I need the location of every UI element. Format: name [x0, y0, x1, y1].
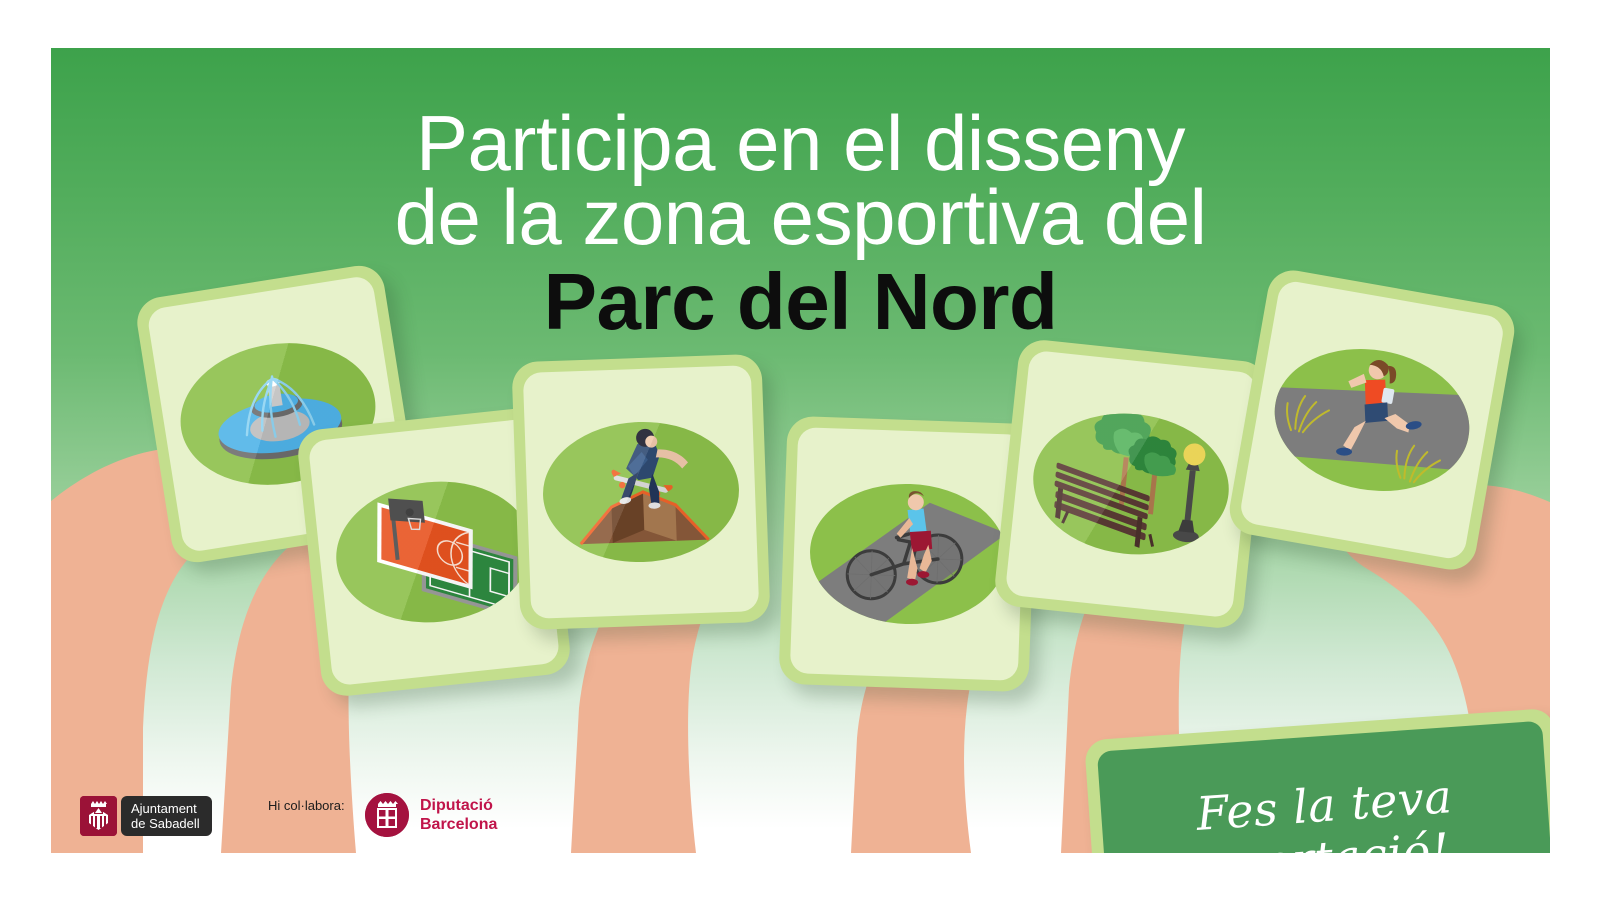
tree-icon [1122, 434, 1179, 516]
footer-bar [0, 853, 1600, 900]
runner-icon [1263, 334, 1480, 506]
sabadell-line-1: Ajuntament [131, 801, 200, 816]
card-plot [1263, 334, 1480, 506]
diputacio-emblem-icon [365, 793, 409, 837]
diba-line-1: Diputació [420, 796, 497, 815]
skateboarder-icon [541, 419, 742, 566]
bench-card[interactable] [993, 338, 1270, 631]
card-face [1238, 279, 1505, 561]
running-card[interactable] [1226, 266, 1519, 573]
card-plot [541, 419, 742, 566]
diputacio-barcelona-logo[interactable]: Diputació Barcelona [365, 793, 497, 837]
collaborate-label: Hi col·labora: [268, 798, 345, 813]
card-plot [1026, 404, 1236, 564]
card-plot [329, 472, 539, 632]
sports-court-icon [329, 472, 539, 632]
sabadell-wordmark: Ajuntament de Sabadell [121, 796, 212, 836]
diba-line-2: Barcelona [420, 815, 497, 834]
park-bench-icon [1026, 404, 1236, 564]
card-face [1005, 350, 1257, 618]
skatepark-card[interactable] [511, 354, 770, 631]
green-background-panel: Participa en el disseny de la zona espor… [51, 48, 1550, 853]
street-lamp-icon [1172, 442, 1208, 543]
ajuntament-sabadell-logo[interactable]: Ajuntament de Sabadell [80, 796, 212, 836]
tree-icon [1087, 407, 1154, 508]
card-face [523, 365, 759, 619]
sabadell-shield-icon [80, 796, 117, 836]
cyclist-icon [808, 481, 1009, 628]
cta-callout-text: Fes la teva aportació! [1194, 770, 1457, 853]
card-plot [808, 481, 1009, 628]
sabadell-line-2: de Sabadell [131, 816, 200, 831]
cta-callout-inner: Fes la teva aportació! [1097, 721, 1550, 853]
poster-root: Participa en el disseny de la zona espor… [0, 0, 1600, 900]
card-face [790, 427, 1026, 681]
diputacio-wordmark: Diputació Barcelona [420, 796, 497, 834]
